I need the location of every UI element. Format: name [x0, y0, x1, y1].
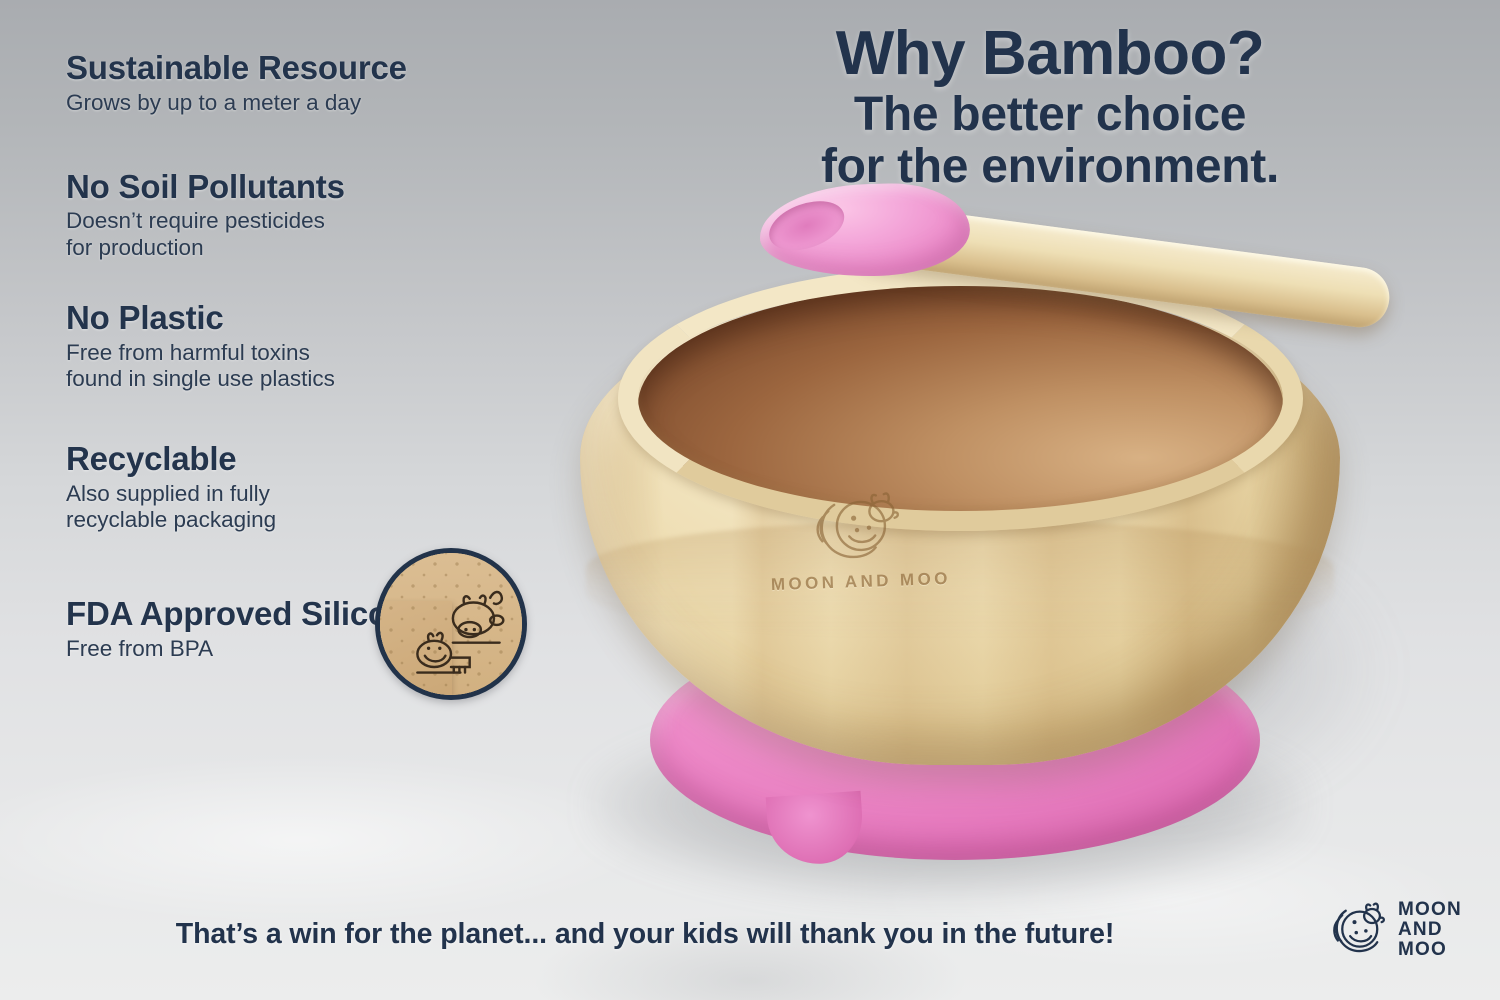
- brand-wordmark: MOON AND MOO: [1398, 900, 1462, 960]
- headline-line-3: for the environment.: [600, 141, 1500, 193]
- recyclable-packaging-badge: [375, 548, 527, 700]
- headline-line-2: The better choice: [600, 89, 1500, 141]
- feature-item-no-plastic: No Plastic Free from harmful toxins foun…: [66, 300, 586, 393]
- feature-description: Free from harmful toxins found in single…: [66, 340, 586, 393]
- feature-item-recyclable: Recyclable Also supplied in fully recycl…: [66, 441, 586, 534]
- brand-wordmark-line-1: MOON: [1398, 900, 1462, 920]
- infographic-canvas: MOON AND MOO Why Bamboo? The better choi…: [0, 0, 1500, 1000]
- spoon-scoop-hollow: [763, 192, 851, 260]
- engraved-brand-mark: MOON AND MOO: [728, 486, 993, 630]
- brand-wordmark-line-2: AND: [1398, 920, 1462, 940]
- engraved-brand-text: MOON AND MOO: [731, 567, 992, 596]
- brand-logo: MOON AND MOO: [1330, 900, 1462, 960]
- footer-tagline: That’s a win for the planet... and your …: [0, 918, 1290, 951]
- feature-item-no-soil-pollutants: No Soil Pollutants Doesn’t require pesti…: [66, 169, 586, 262]
- headline: Why Bamboo? The better choice for the en…: [600, 22, 1500, 193]
- moon-and-moo-cow-logo-icon: [798, 488, 921, 570]
- moon-and-moo-cow-logo-icon: [1330, 902, 1386, 958]
- feature-item-sustainable-resource: Sustainable Resource Grows by up to a me…: [66, 50, 586, 117]
- feature-description: Doesn’t require pesticides for productio…: [66, 208, 586, 261]
- feature-description: Grows by up to a meter a day: [66, 90, 586, 117]
- feature-title: No Soil Pollutants: [66, 169, 586, 206]
- product-photo-bamboo-suction-bowl: MOON AND MOO: [500, 190, 1420, 870]
- feature-title: Sustainable Resource: [66, 50, 586, 87]
- headline-line-1: Why Bamboo?: [600, 22, 1500, 85]
- brand-wordmark-line-3: MOO: [1398, 940, 1462, 960]
- feature-title: Recyclable: [66, 441, 586, 478]
- feature-description: Also supplied in fully recyclable packag…: [66, 481, 586, 534]
- feature-title: No Plastic: [66, 300, 586, 337]
- packaging-cow-illustrations-icon: [380, 553, 522, 695]
